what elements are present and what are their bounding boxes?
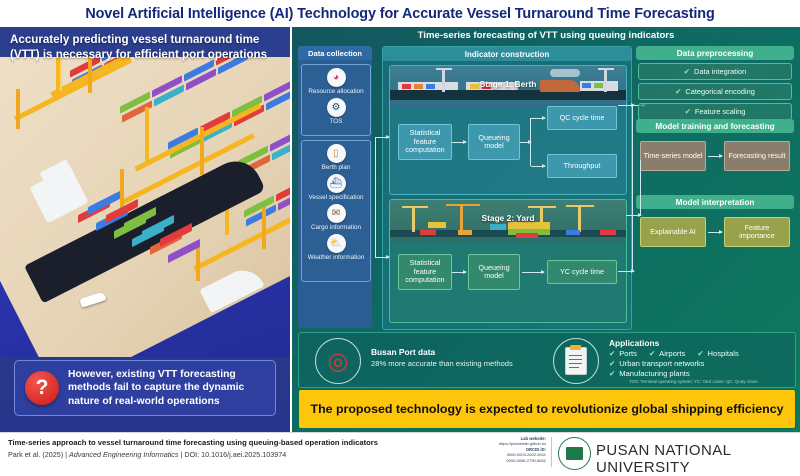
preprocessing-item[interactable]: ✔ Feature scaling [638,103,792,120]
resource-allocation-icon: ◕ [327,68,346,87]
stage-2-yc-cycle-time-box[interactable]: YC cycle time [547,260,617,284]
conclusion-banner-text: The proposed technology is expected to r… [311,401,784,417]
footer-doi: DOI: 10.1016/j.aei.2025.103974 [184,450,286,459]
time-series-model-box[interactable]: Time-series model [640,141,706,171]
application-item: ✔Urban transport networks [609,359,789,369]
applications-title: Applications [609,338,789,348]
model-interpretation-header: Model interpretation [636,195,794,209]
stage-2-statistical-feature-box[interactable]: Statistical feature computation [398,254,452,290]
lab-website-label: Lab website: [521,436,546,441]
preprocessing-item-label: Categorical encoding [685,87,754,96]
data-collection-group-1: ◕ Resource allocation ⚙ TOS [301,64,371,136]
data-collection-item[interactable]: ▯ Berth plan [302,144,370,171]
data-preprocessing-header: Data preprocessing [636,46,794,60]
target-icon: ◎ [315,338,361,384]
check-icon: ✔ [609,349,615,358]
check-icon: ✔ [697,349,703,358]
model-interpretation-panel: Model interpretation Explainable AI Feat… [636,195,794,259]
application-item-label: Manufacturing plants [619,369,690,378]
stage-2-yard: Stage 2: Yard Statistical feature comput… [389,199,627,323]
data-collection-item-label: Cargo information [311,224,361,231]
data-preprocessing-panel: Data preprocessing ✔ Data integration ✔ … [636,46,794,120]
footer-lab-info: Lab website: https://pnuberlab.github.io… [460,436,546,463]
berth-plan-icon: ▯ [327,144,346,163]
stage-1-queueing-model-box[interactable]: Queueing model [468,124,520,160]
busan-port-subtitle: 28% more accurate than existing methods [371,359,513,368]
indicator-construction-header: Indicator construction [383,47,631,61]
board-title: Time-series forecasting of VTT using que… [292,30,800,41]
data-collection-group-2: ▯ Berth plan ⛴ Vessel specification ✉ Ca… [301,140,371,282]
lab-website-url[interactable]: https://pnuberlab.github.io/ [499,441,546,446]
page-title: Novel Artificial Intelligence (AI) Techn… [85,6,714,22]
infographic-page: Novel Artificial Intelligence (AI) Techn… [0,0,800,471]
stage-1-statistical-feature-box[interactable]: Statistical feature computation [398,124,452,160]
model-training-header: Model training and forecasting [636,119,794,133]
data-collection-item-label: Vessel specification [309,194,364,201]
model-training-panel: Model training and forecasting Time-seri… [636,119,794,183]
footer-paper-title: Time-series approach to vessel turnaroun… [8,438,378,447]
application-item-label: Ports [619,349,637,358]
application-item: ✔Ports [609,349,637,359]
data-collection-item-label: Berth plan [322,164,351,171]
application-item-label: Urban transport networks [619,359,704,368]
indicator-construction-panel: Indicator construction [382,46,632,330]
seal-inner-mark [566,447,583,460]
preprocessing-item-label: Feature scaling [695,107,746,116]
footer: Time-series approach to vessel turnaroun… [0,432,800,472]
application-item: ✔Manufacturing plants [609,369,789,379]
footer-citation: Park et al. (2025) | Advanced Engineerin… [8,450,286,459]
check-icon: ✔ [649,349,655,358]
footer-authors: Park et al. (2025) [8,450,63,459]
data-collection-item[interactable]: ⛅ Weather information [302,234,370,261]
left-problem-text: However, existing VTT forecasting method… [68,368,269,408]
weather-information-icon: ⛅ [327,234,346,253]
left-problem-note: ? However, existing VTT forecasting meth… [14,360,276,416]
application-item-label: Hospitals [708,349,739,358]
orcid-id-2: 0000-0056-2790-8632 [506,458,546,463]
check-icon: ✔ [609,369,615,378]
data-collection-item[interactable]: ⚙ TOS [302,98,370,125]
left-headline: Accurately predicting vessel turnaround … [10,32,282,62]
stage-1-berth: Stage 1: Berth Statistical feature compu… [389,65,627,195]
cargo-information-icon: ✉ [327,204,346,223]
conclusion-banner: The proposed technology is expected to r… [298,389,796,429]
stage-1-caption: Stage 1: Berth [390,79,626,89]
preprocessing-item[interactable]: ✔ Data integration [638,63,792,80]
busan-port-title: Busan Port data [371,347,513,357]
feature-importance-box[interactable]: Feature importance [724,217,790,247]
method-board: Time-series forecasting of VTT using que… [292,27,800,432]
page-title-bar: Novel Artificial Intelligence (AI) Techn… [0,0,800,27]
infographic-body: Accurately predicting vessel turnaround … [0,27,800,432]
check-icon: ✔ [609,359,615,368]
data-collection-item[interactable]: ⛴ Vessel specification [302,174,370,201]
orcid-id-1: 0000-0003-2602-5011 [507,452,546,457]
stage-1-throughput-box[interactable]: Throughput [547,154,617,178]
data-collection-item-label: Weather information [308,254,365,261]
application-item: ✔Airports [649,349,685,359]
pusan-university-seal-icon [558,437,591,470]
forecasting-result-box[interactable]: Forecasting result [724,141,790,171]
footer-divider [551,437,552,467]
question-mark-icon: ? [25,371,59,405]
data-collection-item-label: Resource allocation [308,88,363,95]
clipboard-icon [553,338,599,384]
footer-journal: Advanced Engineering Informatics [69,450,178,459]
port-illustration [0,57,290,357]
explainable-ai-box[interactable]: Explainable AI [640,217,706,247]
check-icon: ✔ [675,87,681,96]
check-icon: ✔ [684,67,690,76]
left-panel: Accurately predicting vessel turnaround … [0,27,290,432]
data-collection-header: Data collection [298,46,372,60]
abbreviation-footnote: TOS: Terminal operating system; YC: Yard… [629,379,758,384]
application-item-label: Airports [659,349,685,358]
results-applications-strip: ◎ Busan Port data 28% more accurate than… [298,332,796,388]
data-collection-item[interactable]: ◕ Resource allocation [302,68,370,95]
data-collection-item[interactable]: ✉ Cargo information [302,204,370,231]
vessel-specification-icon: ⛴ [327,174,346,193]
stage-1-qc-cycle-time-box[interactable]: QC cycle time [547,106,617,130]
preprocessing-item[interactable]: ✔ Categorical encoding [638,83,792,100]
orcid-label: ORCID iD: [526,447,546,452]
stage-2-caption: Stage 2: Yard [390,213,626,223]
check-icon: ✔ [685,107,691,116]
data-collection-item-label: TOS [330,118,343,125]
data-collection-column: Data collection ◕ Resource allocation ⚙ … [298,46,372,328]
preprocessing-item-label: Data integration [694,67,746,76]
stage-2-queueing-model-box[interactable]: Queueing model [468,254,520,290]
tos-gear-icon: ⚙ [327,98,346,117]
application-item: ✔Hospitals [697,349,738,359]
